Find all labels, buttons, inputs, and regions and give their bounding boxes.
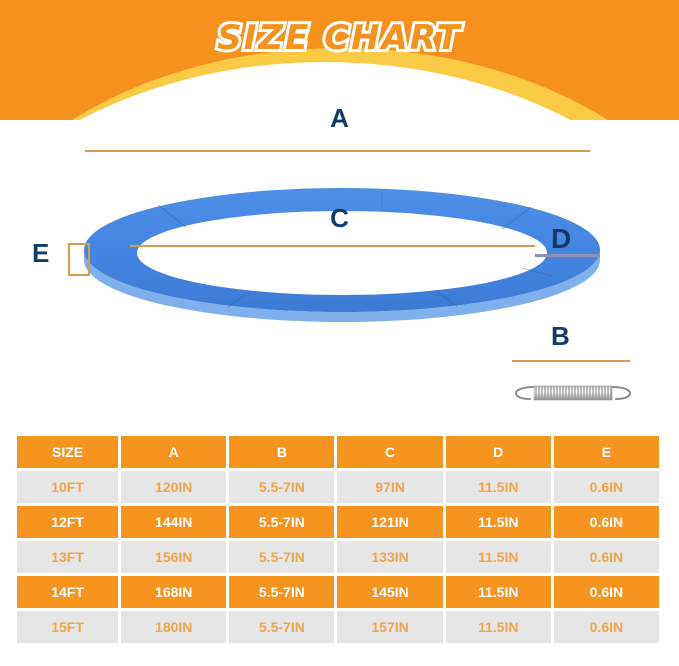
cell-d: 11.5IN (446, 611, 551, 643)
dimension-label-e: E (32, 240, 49, 266)
cell-c: 121IN (337, 506, 442, 538)
cell-a: 120IN (121, 471, 226, 503)
table-row: 14FT 168IN 5.5-7IN 145IN 11.5IN 0.6IN (17, 576, 659, 608)
trampoline-spring-icon (510, 377, 636, 409)
cell-a: 156IN (121, 541, 226, 573)
measurement-line-c (130, 245, 535, 247)
measurement-bracket-e (68, 243, 90, 276)
measurement-line-b (512, 360, 630, 362)
cell-size: 10FT (17, 471, 118, 503)
cell-a: 168IN (121, 576, 226, 608)
cell-size: 13FT (17, 541, 118, 573)
cell-e: 0.6IN (554, 471, 659, 503)
cell-b: 5.5-7IN (229, 576, 334, 608)
table-row: 10FT 120IN 5.5-7IN 97IN 11.5IN 0.6IN (17, 471, 659, 503)
table-row: 15FT 180IN 5.5-7IN 157IN 11.5IN 0.6IN (17, 611, 659, 643)
cell-c: 145IN (337, 576, 442, 608)
table-row: 13FT 156IN 5.5-7IN 133IN 11.5IN 0.6IN (17, 541, 659, 573)
cell-d: 11.5IN (446, 541, 551, 573)
cell-d: 11.5IN (446, 506, 551, 538)
measurement-line-d (535, 254, 600, 257)
page-title: SIZE CHART (0, 18, 679, 58)
column-header-e: E (554, 436, 659, 468)
dimension-label-b: B (551, 323, 570, 349)
cell-e: 0.6IN (554, 576, 659, 608)
dimension-label-c: C (0, 205, 679, 231)
cell-c: 157IN (337, 611, 442, 643)
cell-c: 133IN (337, 541, 442, 573)
cell-b: 5.5-7IN (229, 471, 334, 503)
cell-d: 11.5IN (446, 576, 551, 608)
size-chart-table: SIZE A B C D E 10FT 120IN 5.5-7IN 97IN 1… (14, 433, 662, 646)
cell-b: 5.5-7IN (229, 611, 334, 643)
cell-c: 97IN (337, 471, 442, 503)
table-row: 12FT 144IN 5.5-7IN 121IN 11.5IN 0.6IN (17, 506, 659, 538)
cell-size: 14FT (17, 576, 118, 608)
cell-d: 11.5IN (446, 471, 551, 503)
cell-size: 12FT (17, 506, 118, 538)
cell-size: 15FT (17, 611, 118, 643)
cell-e: 0.6IN (554, 506, 659, 538)
cell-b: 5.5-7IN (229, 541, 334, 573)
cell-e: 0.6IN (554, 611, 659, 643)
cell-a: 144IN (121, 506, 226, 538)
column-header-c: C (337, 436, 442, 468)
column-header-size: SIZE (17, 436, 118, 468)
dimension-label-a: A (0, 105, 679, 131)
dimension-label-d: D (551, 225, 571, 253)
column-header-b: B (229, 436, 334, 468)
column-header-a: A (121, 436, 226, 468)
size-diagram: A C D E B (0, 95, 679, 430)
column-header-d: D (446, 436, 551, 468)
measurement-line-a (85, 150, 590, 152)
table-header-row: SIZE A B C D E (17, 436, 659, 468)
cell-e: 0.6IN (554, 541, 659, 573)
cell-a: 180IN (121, 611, 226, 643)
cell-b: 5.5-7IN (229, 506, 334, 538)
